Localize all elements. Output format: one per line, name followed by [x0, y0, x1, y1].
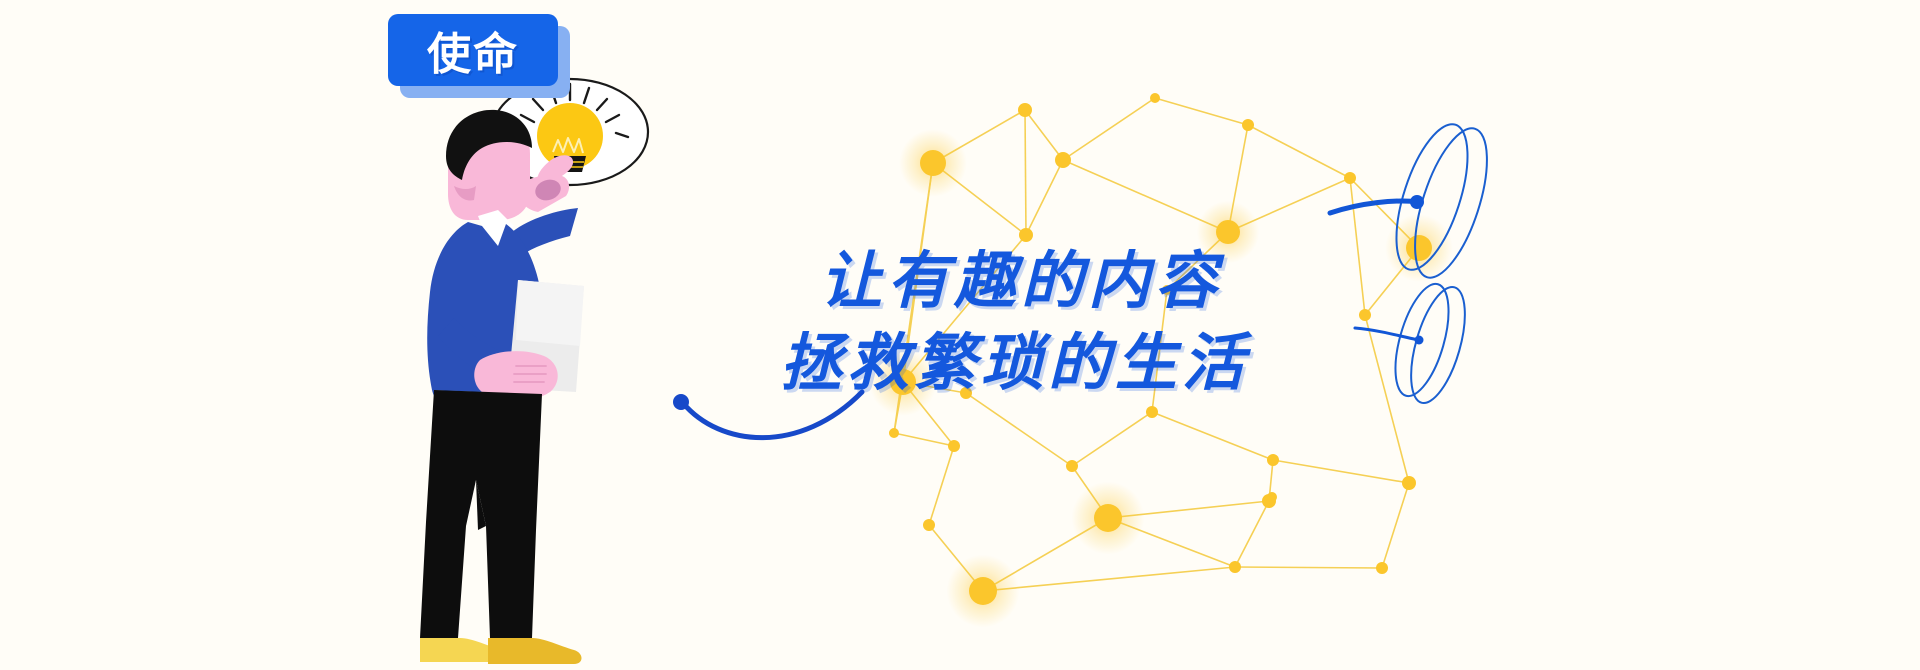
mission-banner: 使命 让有趣的内容 拯救繁琐的生活 [0, 0, 1920, 670]
mission-badge: 使命 [388, 14, 558, 86]
pointing-man-illustration [420, 60, 740, 670]
badge-face: 使命 [388, 14, 558, 86]
headline-line-2: 拯救繁琐的生活 [780, 322, 1460, 404]
character-trousers [420, 390, 542, 638]
headline-line-1: 让有趣的内容 [820, 240, 1460, 322]
badge-label: 使命 [427, 18, 519, 82]
character-head [446, 110, 532, 220]
character-shoes [420, 638, 582, 664]
headline-block: 让有趣的内容 拯救繁琐的生活 [820, 240, 1460, 404]
orbit-tail-large [1330, 201, 1420, 213]
